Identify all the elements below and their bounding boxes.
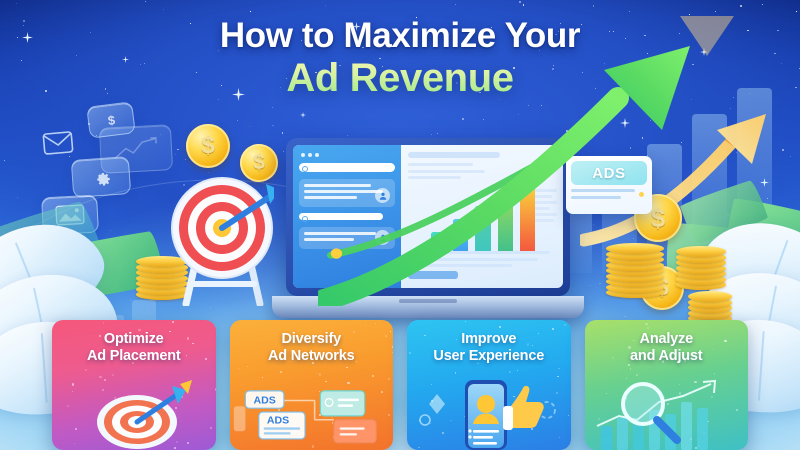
- card-improve-user-experience[interactable]: Improve User Experience: [407, 320, 571, 450]
- gold-coin: $: [186, 124, 230, 168]
- card-title-line-1: Analyze: [590, 331, 744, 348]
- target-icon: [170, 176, 274, 280]
- feature-cards: Optimize Ad Placement Diversify Ad Netwo…: [0, 320, 800, 450]
- card-title: Diversify Ad Networks: [230, 331, 394, 365]
- card-title-line-1: Optimize: [57, 331, 211, 348]
- phone-thumbsup-icon: [407, 376, 571, 450]
- card-title-line-2: Ad Networks: [235, 348, 389, 365]
- card-optimize-ad-placement[interactable]: Optimize Ad Placement: [52, 320, 216, 450]
- card-title-line-2: and Adjust: [590, 348, 744, 365]
- mail-icon: [42, 131, 74, 156]
- card-title: Analyze and Adjust: [585, 331, 749, 365]
- svg-text:$: $: [107, 112, 116, 128]
- card-title: Optimize Ad Placement: [52, 331, 216, 365]
- ads-badge-text: ADS: [266, 415, 288, 427]
- chart-icon: [111, 135, 160, 163]
- title-line-2: Ad Revenue: [0, 57, 800, 99]
- card-title-line-1: Diversify: [235, 331, 389, 348]
- network-ads-icon: ADS ADS: [230, 376, 394, 450]
- page-title: How to Maximize Your Ad Revenue: [0, 18, 800, 99]
- card-title-line-1: Improve: [412, 331, 566, 348]
- chip-mail: [35, 126, 81, 160]
- card-title: Improve User Experience: [407, 331, 571, 365]
- chip-chart: [99, 124, 173, 174]
- target-dart-icon: [52, 376, 216, 450]
- card-analyze-and-adjust[interactable]: Analyze and Adjust: [585, 320, 749, 450]
- poster-canvas: $ How to Maximize Your: [0, 0, 800, 450]
- title-line-1: How to Maximize Your: [0, 18, 800, 54]
- card-title-line-2: User Experience: [412, 348, 566, 365]
- card-title-line-2: Ad Placement: [57, 348, 211, 365]
- ads-badge-text: ADS: [253, 394, 275, 406]
- magnifier-chart-icon: [585, 376, 749, 450]
- card-diversify-ad-networks[interactable]: Diversify Ad Networks ADS ADS: [230, 320, 394, 450]
